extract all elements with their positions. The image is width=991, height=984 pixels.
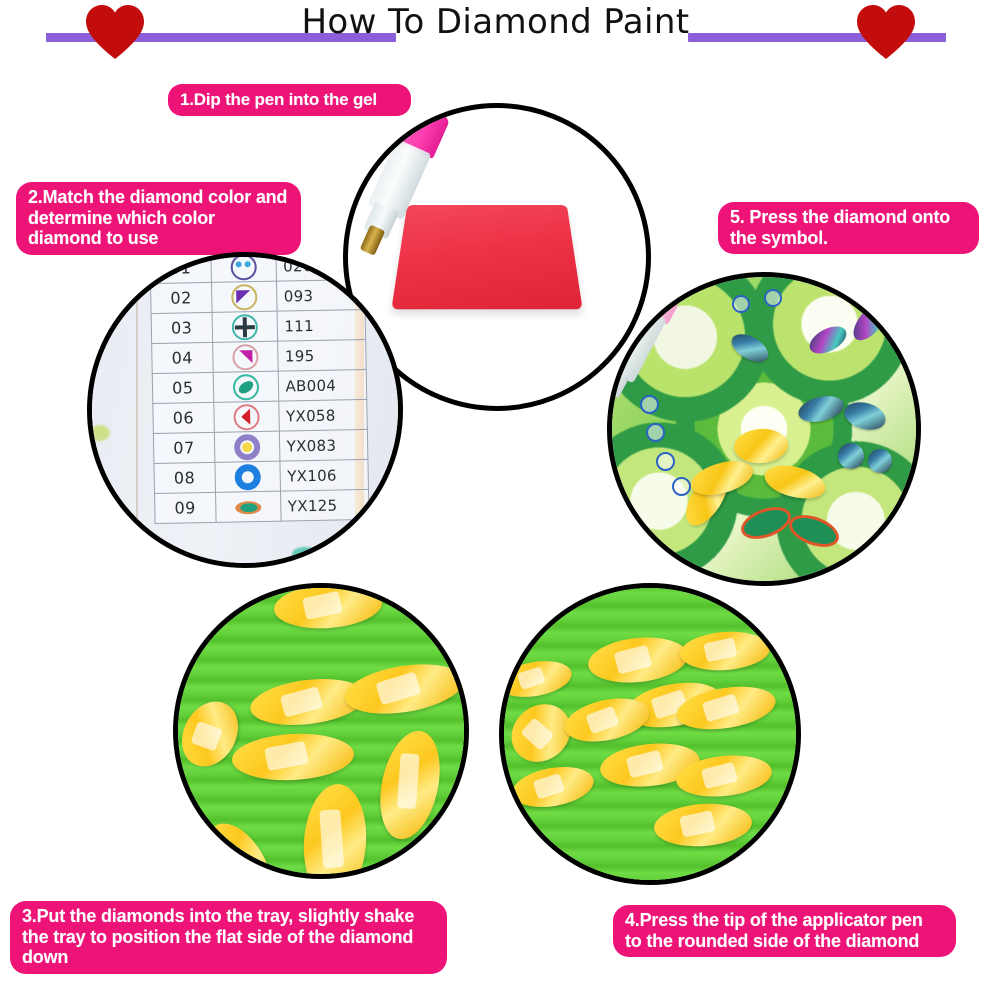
stray-bead-teal — [92, 485, 114, 505]
teal-ellipse-icon — [213, 371, 278, 402]
paper-fold-line — [136, 257, 138, 563]
table-row: 03 111 — [151, 309, 366, 343]
canvas-symbol-dot — [656, 452, 675, 471]
row-code: YX083 — [279, 429, 368, 461]
header: How To Diamond Paint — [0, 0, 991, 70]
blue-ring-icon — [215, 461, 280, 492]
canvas-symbol-dot — [646, 423, 665, 442]
step-2-label: 2.Match the diamond color and determine … — [16, 182, 301, 255]
row-code: 111 — [277, 309, 366, 341]
step-3-label: 3.Put the diamonds into the tray, slight… — [10, 901, 447, 974]
pen-tip — [360, 225, 386, 256]
row-code: YX058 — [278, 399, 367, 431]
purple-ring-dot-icon — [214, 431, 279, 462]
canvas-symbol-dot — [764, 289, 782, 307]
step-5-photo — [607, 272, 921, 586]
blue-face-icon — [211, 252, 276, 282]
row-code: YX106 — [279, 459, 368, 491]
canvas-symbol-dot — [732, 295, 750, 313]
table-row: 09 YX125 — [155, 489, 370, 523]
table-row: 07 YX083 — [153, 429, 368, 463]
step-5-label: 5. Press the diamond onto the symbol. — [718, 202, 979, 254]
diamond-round — [868, 449, 892, 473]
step-3-photo — [173, 583, 469, 879]
row-number: 02 — [151, 282, 212, 313]
row-number: 08 — [154, 462, 215, 493]
table-row: 01 020 — [150, 252, 365, 284]
row-number: 03 — [151, 312, 212, 343]
color-symbol-table: 01 020 02 — [149, 252, 369, 524]
row-code: AB004 — [278, 369, 367, 401]
table-row: 06 YX058 — [153, 399, 368, 433]
step-4-photo — [499, 583, 801, 885]
row-code: YX125 — [280, 489, 369, 521]
table-row: 05 AB004 — [152, 369, 367, 403]
magenta-triangle-icon — [212, 341, 277, 372]
table-row: 08 YX106 — [154, 459, 369, 493]
table-row: 04 195 — [152, 339, 367, 373]
step-4-label: 4.Press the tip of the applicator pen to… — [613, 905, 956, 957]
canvas-symbol-dot — [672, 477, 691, 496]
red-chevron-icon — [213, 401, 278, 432]
plus-cross-icon — [212, 311, 277, 342]
row-number: 07 — [153, 432, 214, 463]
row-number: 04 — [152, 342, 213, 373]
row-code: 093 — [276, 279, 365, 311]
diamond-round — [838, 443, 864, 469]
row-number: 01 — [150, 252, 211, 283]
table-row: 02 093 — [151, 279, 366, 313]
purple-triangle-icon — [211, 281, 276, 312]
row-number: 06 — [153, 402, 214, 433]
stray-bead-green — [90, 425, 110, 441]
infographic-root: How To Diamond Paint 1.Dip the pen into … — [0, 0, 991, 984]
row-number: 05 — [152, 372, 213, 403]
step-2-photo: 01 020 02 — [87, 252, 403, 568]
teal-leaf-icon — [215, 491, 280, 522]
stray-bead-teal-2 — [292, 547, 318, 561]
page-title: How To Diamond Paint — [0, 2, 991, 42]
row-number: 09 — [155, 492, 216, 523]
row-code: 195 — [277, 339, 366, 371]
row-code: 020 — [275, 252, 364, 281]
